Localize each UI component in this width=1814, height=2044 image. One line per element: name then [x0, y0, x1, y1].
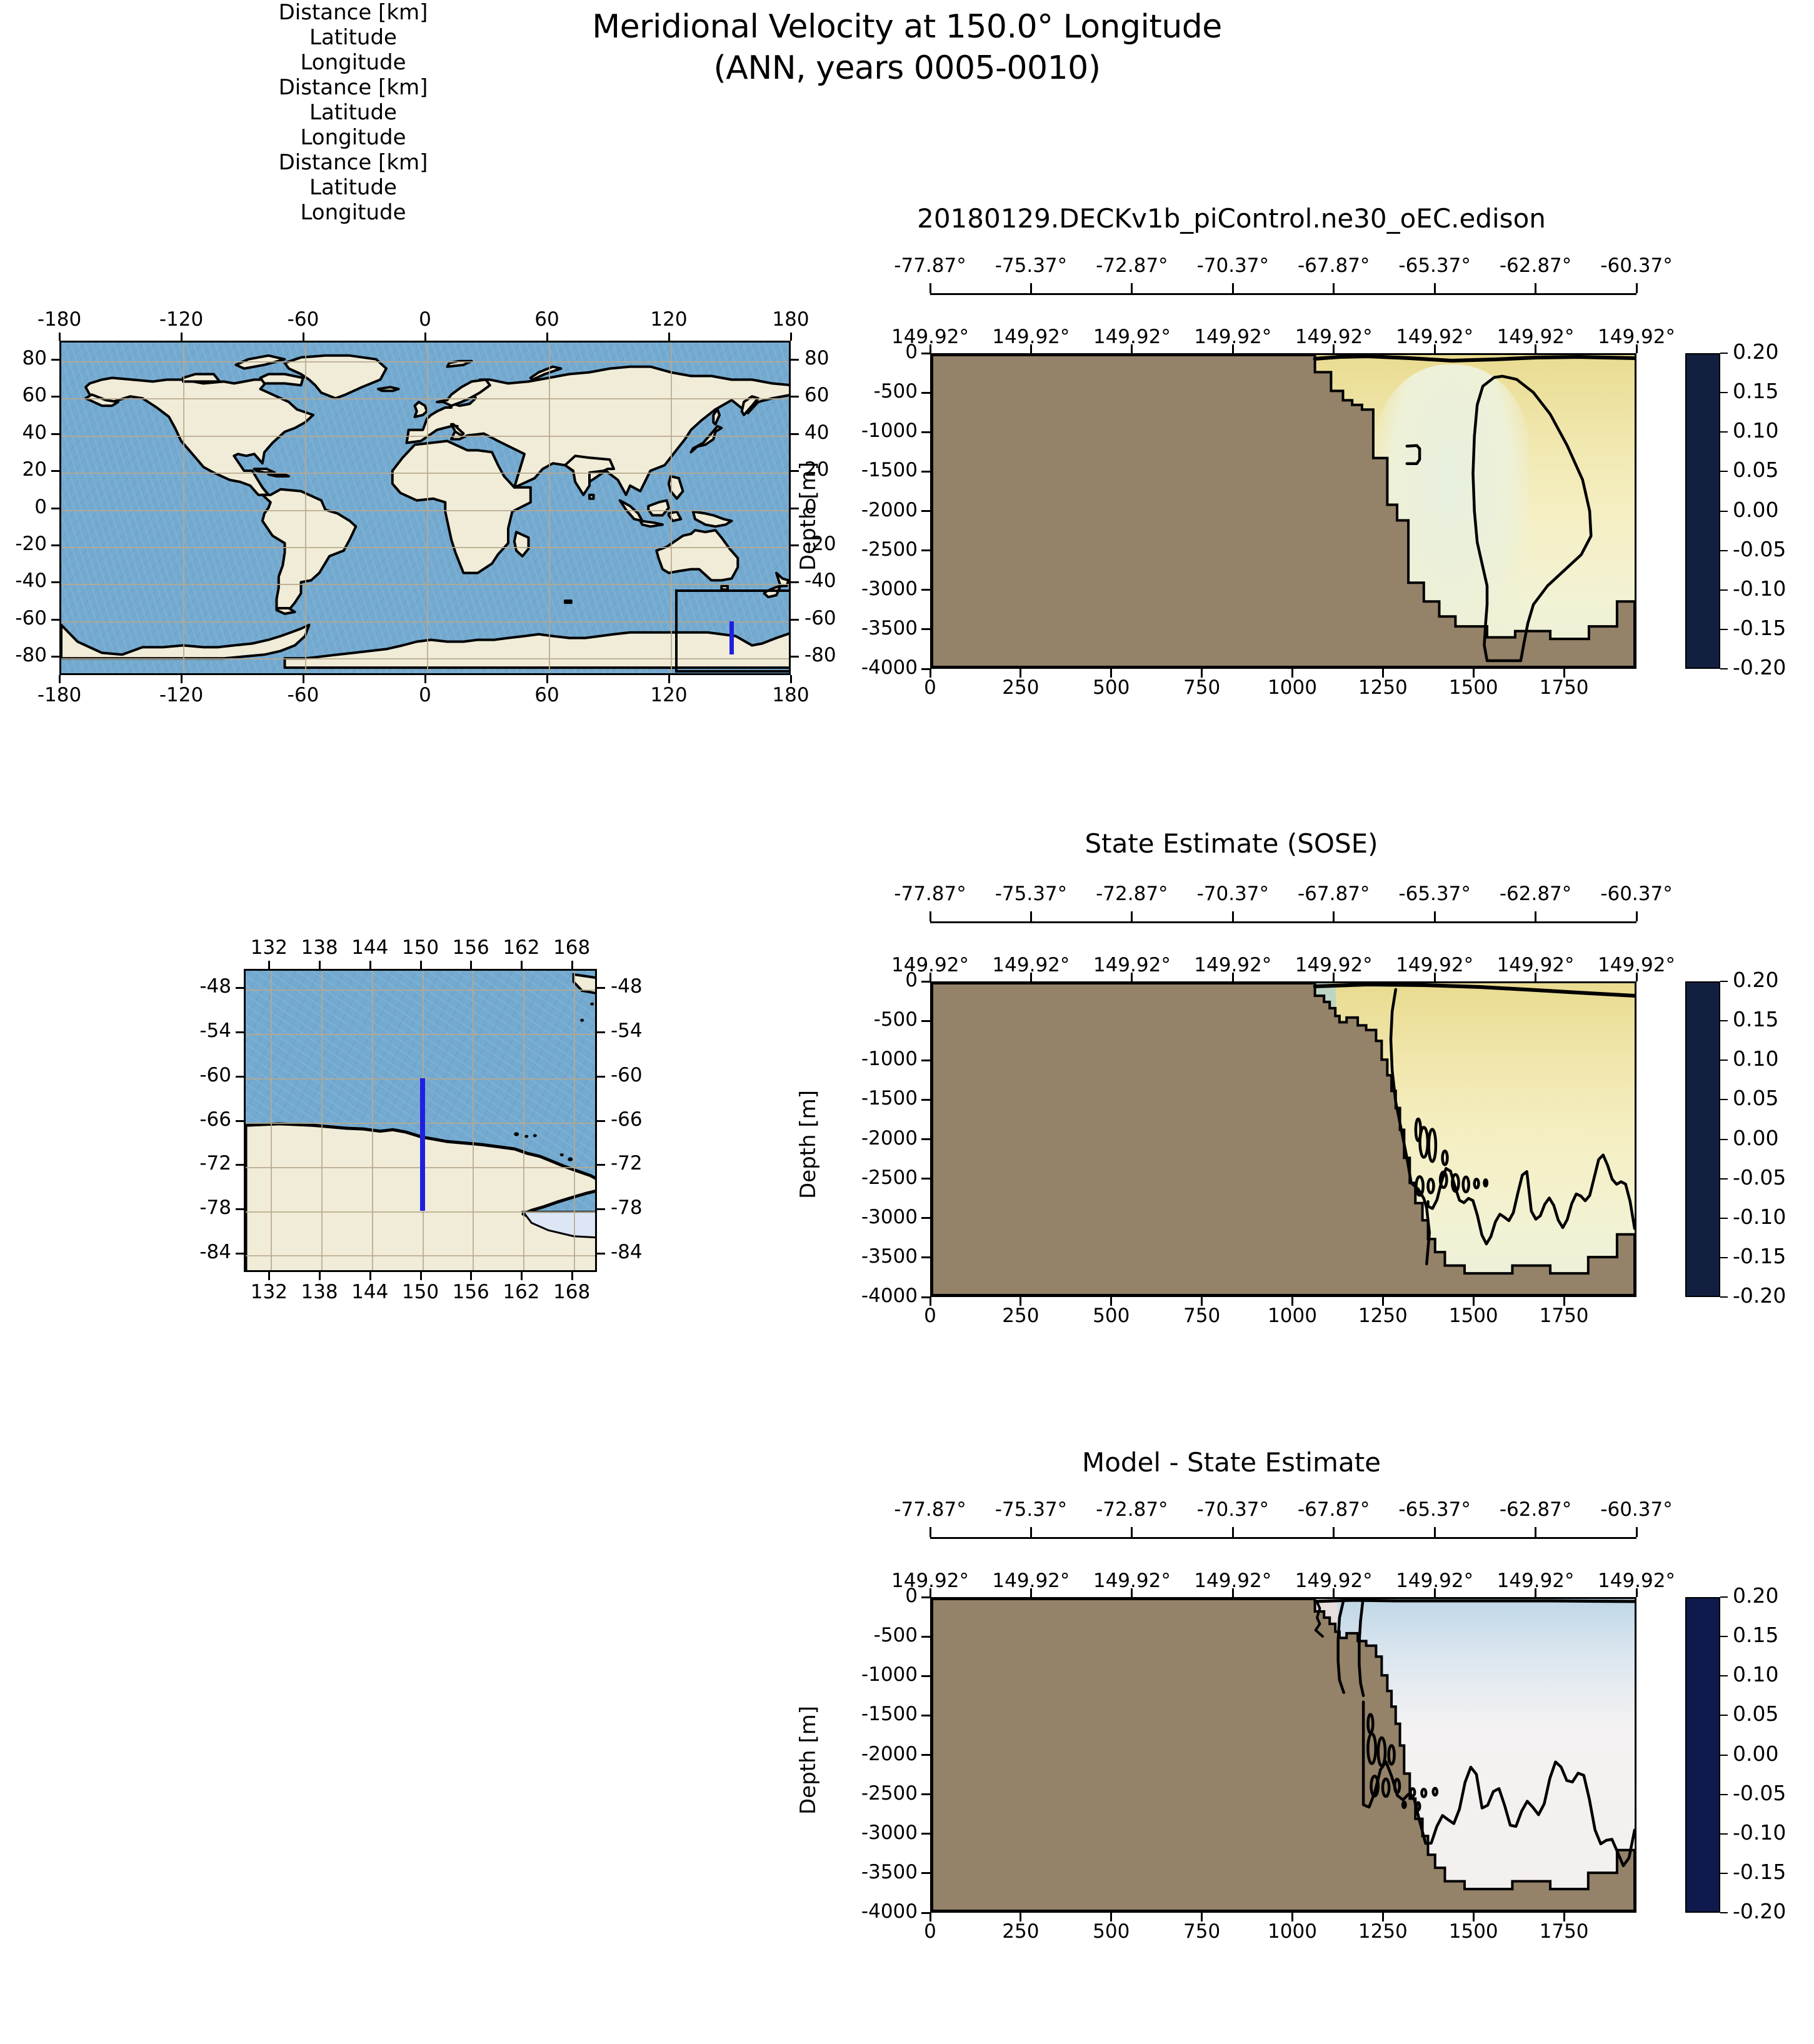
ytickmark-ax2-2	[921, 1060, 930, 1061]
region-ytick-right-2: -60	[611, 1064, 686, 1086]
ytickmark-ax2-3	[921, 1099, 930, 1101]
gridline-lon-60	[549, 343, 550, 673]
xtick-ax2-7: 1750	[1514, 1305, 1614, 1327]
secondary-axis-tick-ax1-7	[1636, 283, 1638, 293]
colorbar-tickmark-ax3-0	[1720, 1596, 1728, 1598]
region-xtickmark-t-4	[470, 961, 472, 969]
island-5	[568, 1157, 573, 1161]
secondary-axis-tick-ax3-3	[1232, 1527, 1234, 1537]
region-xtickmark-t-5	[521, 961, 523, 969]
colorbar-tickmark-ax1-6	[1720, 589, 1728, 591]
zero-contour	[1315, 984, 1635, 996]
secondary-axis-tick-ax3-1	[1030, 1527, 1032, 1537]
world-ytickmark-r-2	[791, 433, 799, 435]
xtick-ax2-4: 1000	[1242, 1305, 1342, 1327]
region-ytick-left-1: -54	[156, 1019, 231, 1042]
colorbar-tick-ax2-3: 0.05	[1733, 1086, 1778, 1110]
ytickmark-ax1-7	[921, 628, 930, 630]
contour-blob	[1463, 1177, 1469, 1192]
xtickmark-ax2-6	[1473, 1297, 1475, 1306]
colorbar-ax1[interactable]	[1685, 353, 1720, 669]
ytick-ax3-7: -3500	[814, 1861, 918, 1883]
colorbar-tick-ax2-2: 0.10	[1733, 1046, 1778, 1071]
world-ytickmark-l-0	[51, 359, 59, 361]
region-xtick-bottom-6: 168	[528, 1281, 616, 1303]
colorbar-tickmark-ax3-2	[1720, 1675, 1728, 1676]
colorbar-tickmark-ax1-2	[1720, 431, 1728, 433]
secondary-axis-tick-ax2-1	[1030, 911, 1032, 921]
world-xtick-top-6: 180	[744, 308, 838, 331]
toptickmark-ax2-6	[1535, 973, 1536, 981]
island-0	[514, 1132, 519, 1136]
ytickmark-ax2-7	[921, 1256, 930, 1258]
ytick-ax2-2: -1000	[814, 1048, 918, 1070]
ytick-ax1-8: -4000	[814, 656, 918, 679]
longitude-axis-label-ax2: Longitude	[0, 125, 706, 150]
ytick-ax1-2: -1000	[814, 419, 918, 442]
toptickmark-ax3-7	[1636, 1588, 1638, 1597]
world-ytickmark-l-5	[51, 544, 59, 546]
colorbar-tickmark-ax1-8	[1720, 668, 1728, 669]
world-xtick-top-1: -120	[134, 308, 228, 331]
gridline-lon-168	[574, 971, 575, 1270]
xtick-ax3-0: 0	[880, 1920, 980, 1943]
ytick-ax1-3: -1500	[814, 459, 918, 481]
toptickmark-ax3-1	[1030, 1588, 1032, 1597]
xtickmark-ax3-0	[930, 1913, 931, 1921]
world-xtickmark-b-4	[546, 675, 548, 683]
world-ytickmark-r-1	[791, 396, 799, 398]
world-ytickmark-r-7	[791, 619, 799, 621]
world-xtickmark-b-5	[668, 675, 670, 683]
colorbar-tickmark-ax2-3	[1720, 1099, 1728, 1100]
toptickmark-ax1-3	[1232, 344, 1234, 353]
region-ytick-left-3: -66	[156, 1108, 231, 1131]
region-ytick-left-0: -48	[156, 975, 231, 998]
ytick-ax1-4: -2000	[814, 499, 918, 521]
world-ytick-left-8: -80	[0, 644, 47, 666]
ytick-ax1-5: -2500	[814, 538, 918, 561]
xtick-ax1-0: 0	[880, 676, 980, 699]
longitude-axis-label-ax3: Longitude	[0, 200, 706, 225]
zero-contour	[1428, 1155, 1635, 1244]
xtickmark-ax3-3	[1201, 1913, 1203, 1921]
colorbar-tickmark-ax2-2	[1720, 1060, 1728, 1061]
secondary-axis-tick-ax1-2	[1131, 283, 1133, 293]
secondary-axis-tick-ax1-6	[1535, 283, 1536, 293]
xtickmark-ax3-7	[1563, 1913, 1565, 1921]
ytickmark-ax3-5	[921, 1793, 930, 1795]
ytick-ax2-8: -4000	[814, 1285, 918, 1307]
ytick-ax3-2: -1000	[814, 1663, 918, 1686]
toptickmark-ax3-4	[1333, 1588, 1335, 1597]
region-xtickmark-t-1	[319, 961, 321, 969]
xtickmark-ax2-0	[930, 1297, 931, 1306]
world-xtick-top-4: 60	[500, 308, 594, 331]
region-ytick-left-5: -78	[156, 1196, 231, 1219]
xtick-ax3-3: 750	[1152, 1920, 1252, 1943]
region-ytick-right-4: -72	[611, 1152, 686, 1175]
ytick-ax2-4: -2000	[814, 1127, 918, 1150]
contour-blob	[1416, 1803, 1420, 1810]
world-xtick-top-2: -60	[256, 308, 350, 331]
colorbar-tick-ax3-6: -0.10	[1733, 1820, 1786, 1845]
world-ytick-left-5: -20	[0, 533, 47, 555]
landmass-kerguelen	[565, 601, 571, 603]
latitude-axis-label-ax3: Latitude	[0, 175, 706, 200]
gridline-lon-144	[372, 971, 373, 1270]
figure-title-line2: (ANN, years 0005-0010)	[0, 48, 1814, 89]
colorbar-tickmark-ax1-7	[1720, 629, 1728, 630]
colorbar-tick-ax1-5: -0.05	[1733, 537, 1786, 561]
ytickmark-ax1-3	[921, 471, 930, 473]
gridline-lon-156	[473, 971, 474, 1270]
region-xtickmark-b-5	[521, 1272, 523, 1280]
toptickmark-ax1-7	[1636, 344, 1638, 353]
world-ytick-left-4: 0	[0, 496, 47, 518]
xtick-ax3-6: 1500	[1423, 1920, 1523, 1943]
landmass-africa	[393, 441, 531, 573]
world-ytickmark-l-2	[51, 433, 59, 435]
toptickmark-ax1-5	[1434, 344, 1436, 353]
world-ytick-left-3: 20	[0, 458, 47, 481]
cross-section-model[interactable]	[930, 353, 1636, 669]
ytickmark-ax2-1	[921, 1020, 930, 1022]
ytick-ax3-5: -2500	[814, 1782, 918, 1805]
ytick-ax1-1: -500	[814, 380, 918, 403]
landmass-iceland	[378, 387, 399, 391]
yaxis-label-ax1: Depth [m]	[796, 461, 821, 570]
gridline-lon-120	[671, 343, 672, 673]
gridline-lat--48	[246, 989, 595, 991]
panel-title-model: 20180129.DECKv1b_piControl.ne30_oEC.edis…	[825, 203, 1638, 234]
island-3	[580, 1019, 584, 1022]
figure-title-line1: Meridional Velocity at 150.0° Longitude	[0, 6, 1814, 48]
region-ytick-left-4: -72	[156, 1152, 231, 1175]
ytickmark-ax2-5	[921, 1178, 930, 1180]
secondary-axis-tick-ax3-6	[1535, 1527, 1536, 1537]
xtickmark-ax3-4	[1291, 1913, 1293, 1921]
secondary-axis-tick-ax1-5	[1434, 283, 1436, 293]
toptickmark-ax3-5	[1434, 1588, 1436, 1597]
transect-line	[729, 621, 734, 655]
ytickmark-ax1-5	[921, 549, 930, 551]
region-ytick-left-2: -60	[156, 1064, 231, 1086]
contour-blob	[1443, 1151, 1448, 1165]
world-ytickmark-r-0	[791, 359, 799, 361]
colorbar-tickmark-ax3-4	[1720, 1755, 1728, 1756]
landmass-sakhalin	[713, 409, 719, 424]
colorbar-tickmark-ax2-0	[1720, 981, 1728, 982]
cross-section-sose[interactable]	[930, 981, 1636, 1297]
cross-section-difference[interactable]	[930, 1597, 1636, 1913]
lat-tick-ax3-7: -60.37°	[1577, 1498, 1696, 1521]
world-ytickmark-l-4	[51, 508, 59, 509]
landmass-uk	[415, 402, 428, 417]
gridline-lon--120	[183, 343, 184, 673]
region-ytickmark-r-0	[597, 987, 605, 989]
world-ytickmark-l-1	[51, 396, 59, 398]
secondary-axis-tick-ax1-4	[1333, 283, 1335, 293]
panel-title-difference: Model - State Estimate	[825, 1447, 1638, 1478]
region-ytick-right-5: -78	[611, 1196, 686, 1219]
ytickmark-ax1-4	[921, 510, 930, 512]
colorbar-ax3[interactable]	[1685, 1597, 1720, 1913]
region-ytick-left-6: -84	[156, 1241, 231, 1263]
colorbar-tick-ax1-6: -0.10	[1733, 576, 1786, 601]
ytickmark-ax3-4	[921, 1754, 930, 1756]
colorbar-tick-ax1-7: -0.15	[1733, 616, 1786, 640]
ytick-ax3-8: -4000	[814, 1900, 918, 1923]
ytickmark-ax3-3	[921, 1715, 930, 1716]
regional-inset-map[interactable]	[244, 969, 597, 1272]
toptickmark-ax2-7	[1636, 973, 1638, 981]
secondary-axis-tick-ax3-2	[1131, 1527, 1133, 1537]
xtickmark-ax2-4	[1291, 1297, 1293, 1306]
secondary-axis-tick-ax1-1	[1030, 283, 1032, 293]
secondary-axis-tick-ax2-0	[930, 911, 931, 921]
ytickmark-ax2-8	[921, 1296, 930, 1298]
colorbar-tick-ax3-2: 0.10	[1733, 1662, 1778, 1686]
world-xtickmark-b-1	[181, 675, 183, 683]
secondary-axis-tick-ax1-3	[1232, 283, 1234, 293]
world-xtickmark-b-0	[59, 675, 61, 683]
world-xtickmark-t-2	[303, 333, 304, 341]
landmass-australia	[656, 530, 738, 580]
lat-tick-ax1-7: -60.37°	[1577, 254, 1696, 277]
toptickmark-ax2-0	[930, 973, 931, 981]
region-xtick-top-6: 168	[528, 936, 616, 959]
contour-blob	[1433, 1788, 1437, 1795]
bathymetry-layer	[932, 983, 1635, 1295]
world-xtick-bottom-1: -120	[134, 684, 228, 706]
region-ytickmark-l-1	[236, 1031, 244, 1033]
island-landmass	[574, 974, 597, 994]
xtickmark-ax1-1	[1020, 669, 1021, 678]
toptickmark-ax3-6	[1535, 1588, 1536, 1597]
world-ytick-left-1: 60	[0, 384, 47, 406]
xtickmark-ax1-0	[930, 669, 931, 678]
ytick-ax3-3: -1500	[814, 1703, 918, 1725]
ytickmark-ax3-1	[921, 1636, 930, 1638]
region-xtickmark-t-2	[369, 961, 371, 969]
region-ytick-right-0: -48	[611, 975, 686, 998]
xtickmark-ax2-1	[1020, 1297, 1021, 1306]
region-ytickmark-l-6	[236, 1253, 244, 1255]
zero-contour	[1473, 376, 1591, 661]
colorbar-tick-ax1-4: 0.00	[1733, 498, 1778, 522]
ytick-ax1-7: -3500	[814, 617, 918, 639]
xtick-ax3-1: 250	[971, 1920, 1071, 1943]
toptickmark-ax1-6	[1535, 344, 1536, 353]
toptickmark-ax2-3	[1232, 973, 1234, 981]
world-ytick-left-7: -60	[0, 607, 47, 629]
ytick-ax3-6: -3000	[814, 1821, 918, 1844]
toptickmark-ax3-3	[1232, 1588, 1234, 1597]
secondary-axis-tick-ax3-5	[1434, 1527, 1436, 1537]
region-ytickmark-r-1	[597, 1031, 605, 1033]
gridline-lat-0	[61, 510, 789, 511]
secondary-axis-tick-ax3-0	[930, 1527, 931, 1537]
secondary-axis-tick-ax3-4	[1333, 1527, 1335, 1537]
xtickmark-ax2-7	[1563, 1297, 1565, 1306]
xtick-ax2-3: 750	[1152, 1305, 1252, 1327]
region-ytickmark-l-0	[236, 987, 244, 989]
colorbar-tick-ax3-5: -0.05	[1733, 1781, 1786, 1805]
xtick-ax1-5: 1250	[1333, 676, 1433, 699]
contour-blob	[1475, 1179, 1479, 1188]
colorbar-tick-ax1-0: 0.20	[1733, 339, 1778, 364]
ytick-ax2-6: -3000	[814, 1206, 918, 1228]
world-ytickmark-l-6	[51, 581, 59, 583]
colorbar-tickmark-ax3-7	[1720, 1873, 1728, 1874]
world-ytickmark-r-6	[791, 581, 799, 583]
world-xtick-bottom-5: 120	[622, 684, 716, 706]
region-ytick-right-6: -84	[611, 1241, 686, 1263]
xtick-ax2-1: 250	[971, 1305, 1071, 1327]
colorbar-tickmark-ax1-0	[1720, 353, 1728, 354]
seafloor-bathymetry	[932, 983, 1635, 1295]
contour-blob	[1403, 1802, 1405, 1808]
region-xtickmark-b-1	[319, 1272, 321, 1280]
secondary-axis-line-ax3	[930, 1537, 1636, 1539]
xtickmark-ax3-1	[1020, 1913, 1021, 1921]
colorbar-tickmark-ax2-4	[1720, 1139, 1728, 1140]
landmass-madagascar	[514, 532, 529, 556]
xtickmark-ax3-6	[1473, 1913, 1475, 1921]
world-xtick-bottom-3: 0	[378, 684, 472, 706]
xtick-ax2-6: 1500	[1423, 1305, 1523, 1327]
world-xtickmark-b-3	[424, 675, 426, 683]
xtickmark-ax1-6	[1473, 669, 1475, 678]
latitude-axis-label-ax2: Latitude	[0, 100, 706, 125]
world-xtick-top-0: -180	[13, 308, 106, 331]
landmass-java	[640, 521, 663, 526]
colorbar-tick-ax2-5: -0.05	[1733, 1165, 1786, 1190]
secondary-axis-tick-ax2-4	[1333, 911, 1335, 921]
colorbar-tickmark-ax3-3	[1720, 1715, 1728, 1716]
region-xtickmark-t-3	[420, 961, 422, 969]
region-xtickmark-t-6	[571, 961, 573, 969]
colorbar-tick-ax2-0: 0.20	[1733, 968, 1778, 992]
landmass-borneo	[648, 501, 669, 516]
world-ytick-left-6: -40	[0, 569, 47, 592]
secondary-axis-tick-ax1-0	[930, 283, 931, 293]
region-xtickmark-b-3	[420, 1272, 422, 1280]
contour-blob	[1410, 1788, 1415, 1796]
world-xtickmark-b-6	[790, 675, 792, 683]
colorbar-tickmark-ax3-6	[1720, 1833, 1728, 1835]
ytickmark-ax3-8	[921, 1912, 930, 1914]
colorbar-tickmark-ax3-8	[1720, 1912, 1728, 1913]
gridline-lat-80	[61, 361, 789, 363]
region-xtickmark-b-2	[369, 1272, 371, 1280]
ytick-ax2-5: -2500	[814, 1166, 918, 1189]
world-ytickmark-l-3	[51, 470, 59, 472]
ytickmark-ax1-1	[921, 392, 930, 394]
panel-title-sose: State Estimate (SOSE)	[825, 828, 1638, 859]
ytick-ax3-1: -500	[814, 1624, 918, 1646]
gridline-lat-20	[61, 473, 789, 474]
world-overview-map[interactable]	[59, 341, 791, 675]
gridline-lat--40	[61, 584, 789, 585]
world-xtickmark-b-2	[303, 675, 304, 683]
region-ytickmark-r-6	[597, 1253, 605, 1255]
colorbar-tickmark-ax3-5	[1720, 1794, 1728, 1795]
gridline-lon-162	[523, 971, 524, 1270]
ytick-ax2-3: -1500	[814, 1087, 918, 1110]
xtickmark-ax1-5	[1382, 669, 1384, 678]
contour-blob	[1421, 1789, 1426, 1796]
island-2	[533, 1134, 537, 1137]
gridline-lat-60	[61, 398, 789, 399]
secondary-axis-tick-ax2-5	[1434, 911, 1436, 921]
toptickmark-ax2-5	[1434, 973, 1436, 981]
colorbar-tick-ax3-3: 0.05	[1733, 1701, 1778, 1726]
xtick-ax1-1: 250	[971, 676, 1071, 699]
world-ytick-left-0: 80	[0, 347, 47, 369]
gridline-lon-132	[271, 971, 272, 1270]
gridline-lat-40	[61, 436, 789, 437]
region-xtickmark-b-0	[268, 1272, 270, 1280]
colorbar-tickmark-ax2-1	[1720, 1020, 1728, 1021]
xtick-ax1-2: 500	[1061, 676, 1161, 699]
landmass-cubaext	[269, 474, 289, 476]
xtickmark-ax2-3	[1201, 1297, 1203, 1306]
colorbar-tick-ax3-4: 0.00	[1733, 1741, 1778, 1766]
colorbar-tick-ax1-3: 0.05	[1733, 458, 1778, 482]
bathymetry-layer	[932, 355, 1635, 667]
colorbar-tickmark-ax1-3	[1720, 471, 1728, 472]
xtick-ax2-2: 500	[1061, 1305, 1161, 1327]
zero-contour	[1315, 356, 1635, 361]
gridline-lat--78	[246, 1211, 595, 1213]
xtick-ax1-4: 1000	[1242, 676, 1342, 699]
colorbar-tickmark-ax2-7	[1720, 1257, 1728, 1258]
contour-blob	[1420, 1128, 1428, 1158]
figure-title: Meridional Velocity at 150.0° Longitude …	[0, 6, 1814, 89]
colorbar-tickmark-ax2-8	[1720, 1296, 1728, 1298]
colorbar-tickmark-ax1-1	[1720, 392, 1728, 393]
xtickmark-ax1-7	[1563, 669, 1565, 678]
world-ytickmark-l-7	[51, 619, 59, 621]
region-ytickmark-r-2	[597, 1076, 605, 1078]
toptickmark-ax2-2	[1131, 973, 1133, 981]
colorbar-tick-ax1-2: 0.10	[1733, 418, 1778, 443]
ytickmark-ax3-7	[921, 1872, 930, 1874]
world-xtickmark-t-3	[424, 333, 426, 341]
world-ytick-left-2: 40	[0, 421, 47, 444]
toptickmark-ax1-2	[1131, 344, 1133, 353]
region-ytickmark-l-3	[236, 1120, 244, 1122]
ytickmark-ax2-6	[921, 1217, 930, 1219]
region-xtickmark-b-6	[571, 1272, 573, 1280]
colorbar-tick-ax2-6: -0.10	[1733, 1205, 1786, 1229]
world-xtickmark-t-1	[181, 333, 183, 341]
world-xtick-top-3: 0	[378, 308, 472, 331]
landmass-victoria	[183, 374, 220, 382]
xtickmark-ax3-2	[1110, 1913, 1112, 1921]
contour-blob	[1485, 1180, 1487, 1186]
colorbar-ax2[interactable]	[1685, 981, 1720, 1297]
yaxis-label-ax2: Depth [m]	[796, 1090, 821, 1198]
gridline-lat--84	[246, 1255, 595, 1256]
toptickmark-ax1-0	[930, 344, 931, 353]
lat-tick-ax2-7: -60.37°	[1577, 883, 1696, 905]
world-xtickmark-t-0	[59, 333, 61, 341]
region-ytickmark-r-5	[597, 1208, 605, 1210]
region-ytickmark-l-4	[236, 1164, 244, 1166]
